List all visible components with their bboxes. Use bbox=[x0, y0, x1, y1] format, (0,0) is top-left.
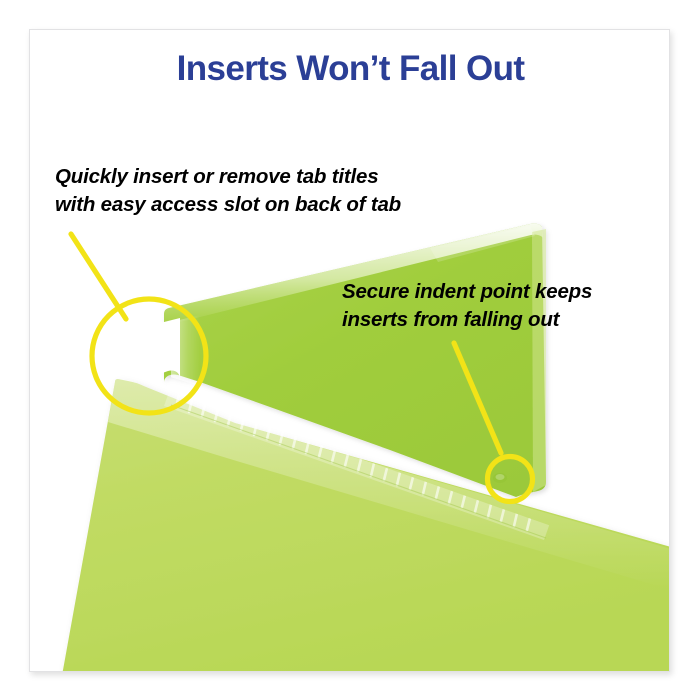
page-title: Inserts Won’t Fall Out bbox=[30, 50, 670, 89]
secure-indent-point bbox=[493, 473, 507, 483]
tab-corner-notch bbox=[148, 318, 182, 390]
screenshot-canvas: Inserts Won’t Fall Out Quickly insert or… bbox=[0, 0, 700, 700]
product-photo bbox=[30, 30, 670, 672]
callout-label-secure-indent: Secure indent point keeps inserts from f… bbox=[342, 278, 592, 333]
callout-label-access-slot: Quickly insert or remove tab titles with… bbox=[55, 163, 401, 218]
product-feature-card: Inserts Won’t Fall Out Quickly insert or… bbox=[29, 29, 670, 672]
